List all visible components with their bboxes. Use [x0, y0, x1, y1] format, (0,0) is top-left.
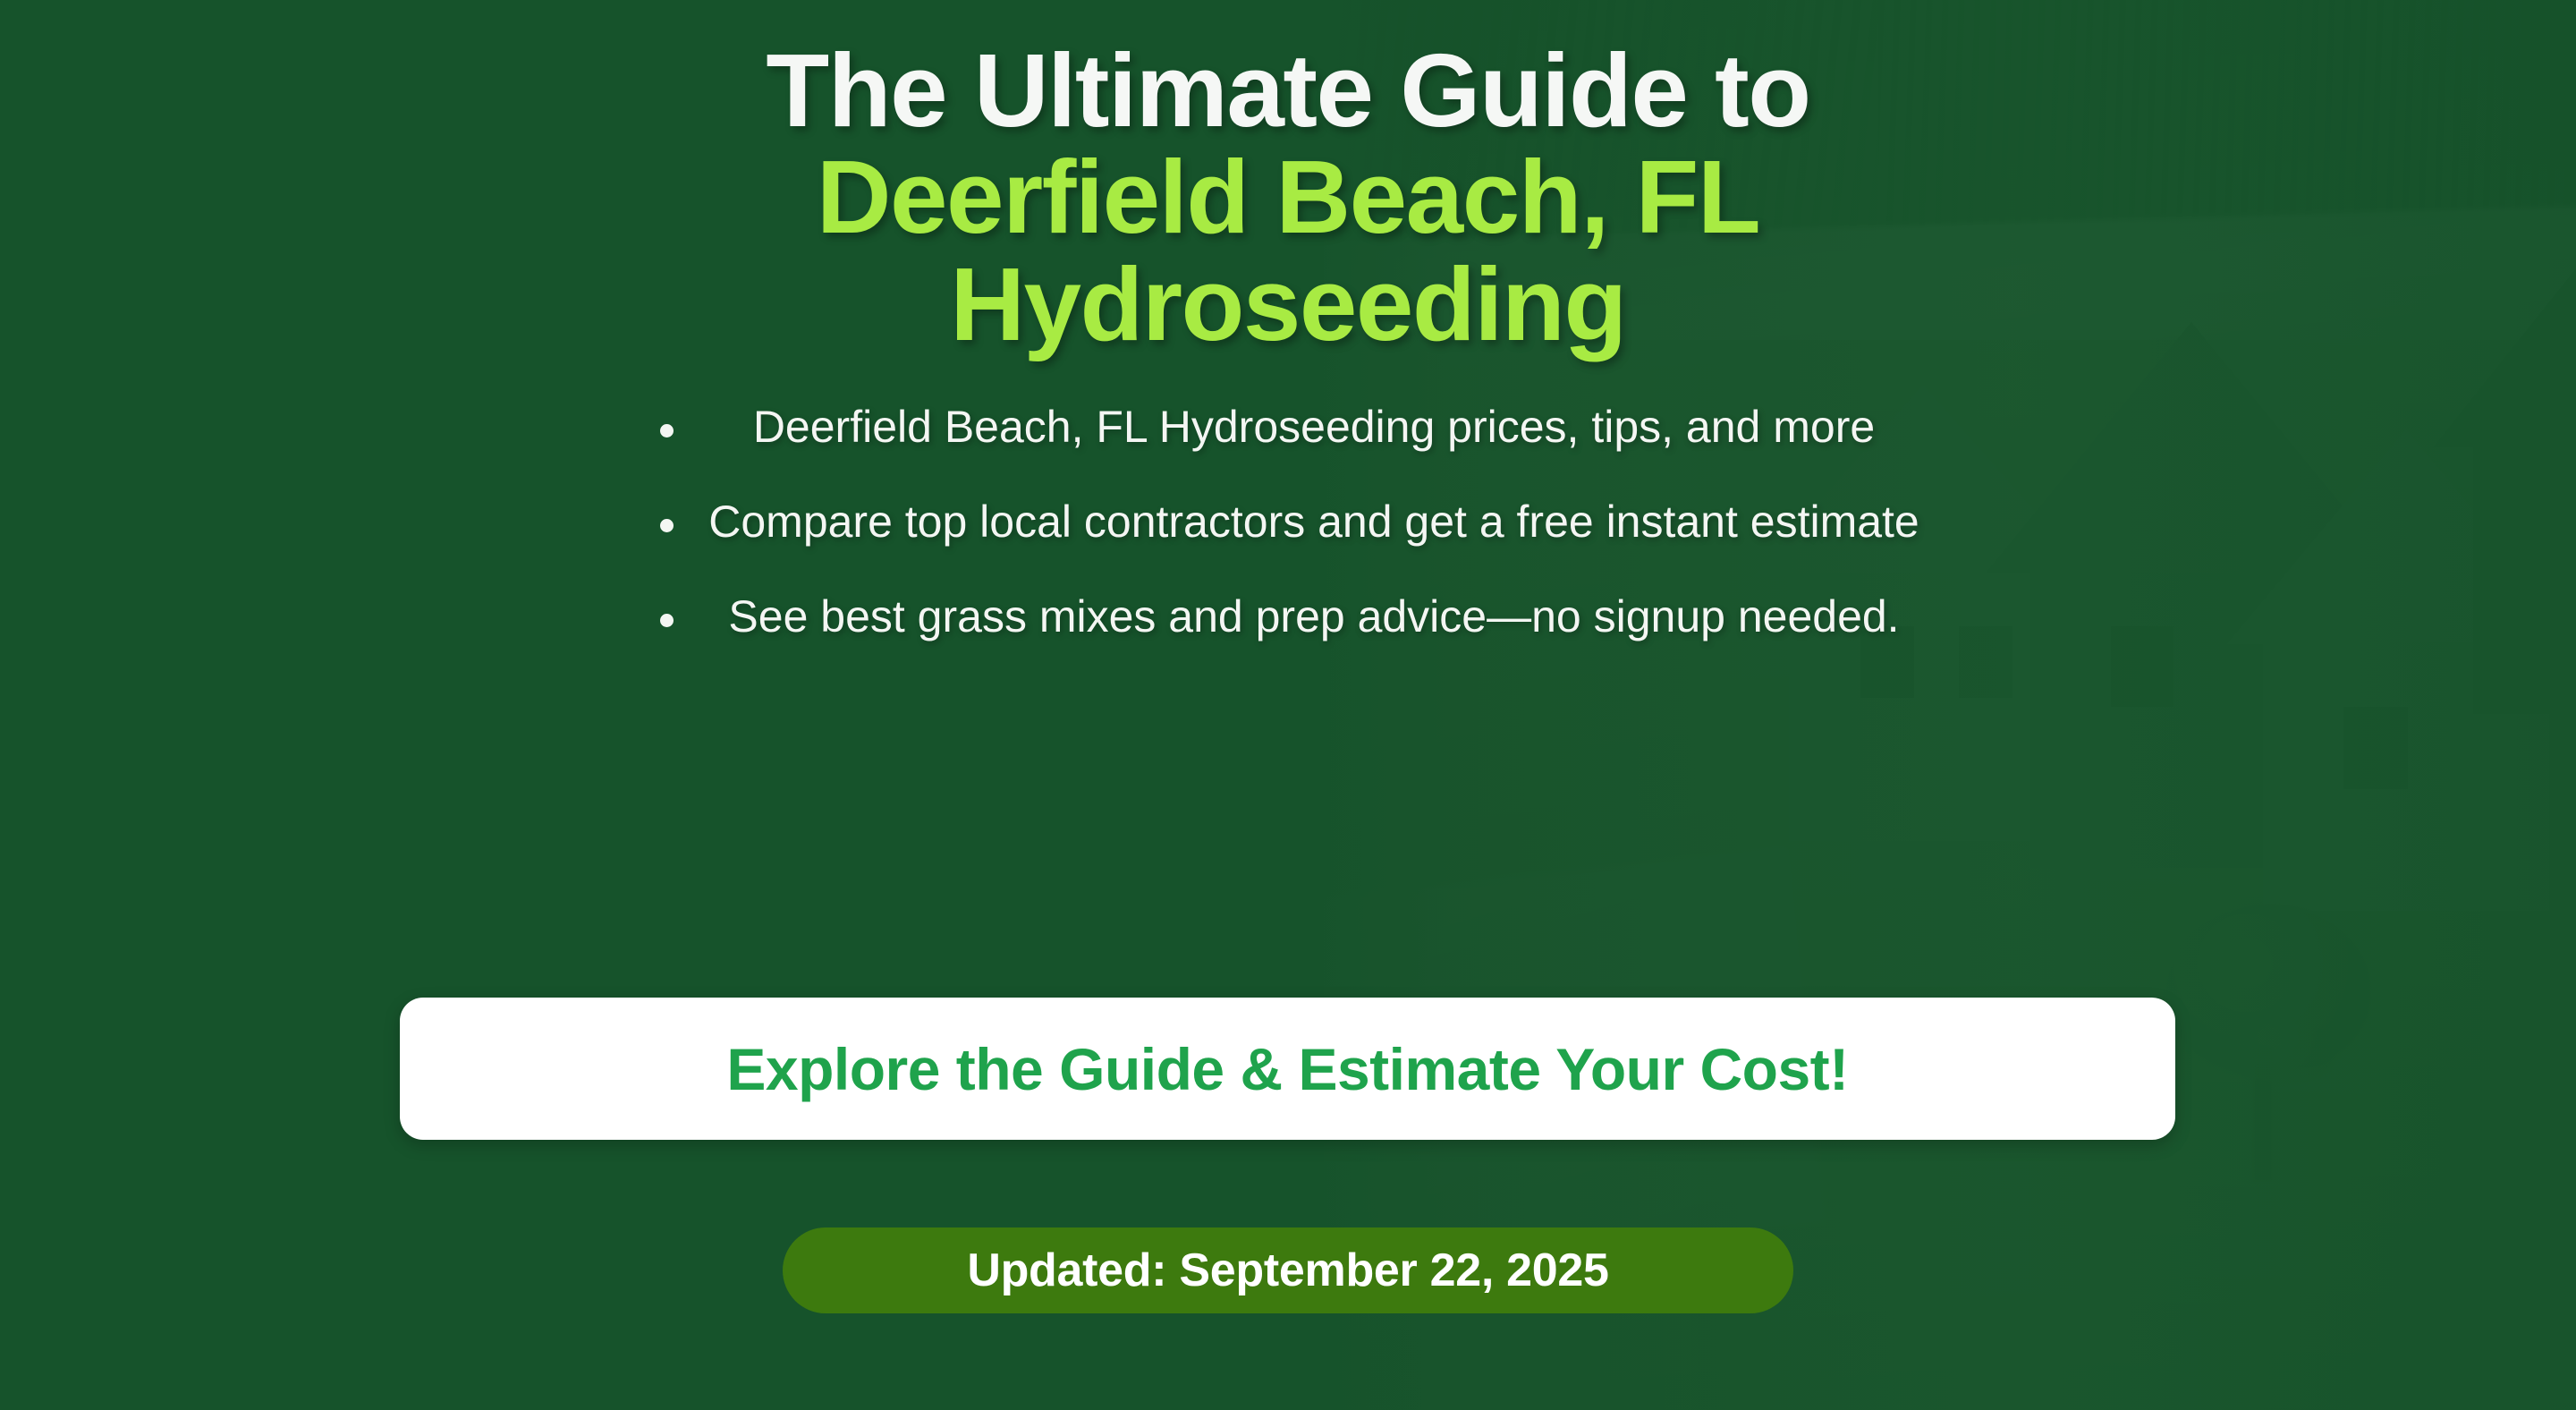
page-title: The Ultimate Guide to Deerfield Beach, F…: [259, 0, 2317, 358]
list-item: See best grass mixes and prep advice—no …: [657, 594, 1919, 639]
bullet-dot-icon: [660, 614, 674, 627]
headline-line-3: Hydroseeding: [259, 251, 2317, 358]
list-item-label: Compare top local contractors and get a …: [708, 497, 1919, 547]
bullet-dot-icon: [660, 519, 674, 532]
headline-line-2: Deerfield Beach, FL: [259, 144, 2317, 251]
list-item-label: Deerfield Beach, FL Hydroseeding prices,…: [753, 402, 1875, 452]
hero-banner: The Ultimate Guide to Deerfield Beach, F…: [0, 0, 2576, 1410]
list-item: Compare top local contractors and get a …: [657, 499, 1919, 544]
benefit-list: Deerfield Beach, FL Hydroseeding prices,…: [657, 404, 1919, 689]
headline-line-1: The Ultimate Guide to: [259, 38, 2317, 144]
bullet-dot-icon: [660, 424, 674, 437]
list-item-label: See best grass mixes and prep advice—no …: [728, 591, 1899, 641]
explore-guide-button[interactable]: Explore the Guide & Estimate Your Cost!: [400, 998, 2175, 1140]
updated-date-badge: Updated: September 22, 2025: [783, 1227, 1793, 1313]
list-item: Deerfield Beach, FL Hydroseeding prices,…: [657, 404, 1919, 449]
